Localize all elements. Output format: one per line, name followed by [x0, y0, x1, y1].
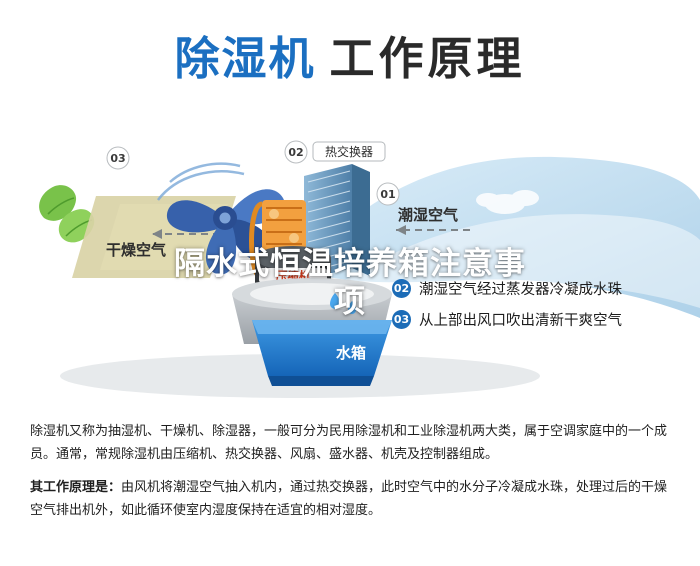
heat-exchanger-label-box: 热交换器 — [313, 142, 385, 161]
legend-item: 02 潮湿空气经过蒸发器冷凝成水珠 — [392, 278, 692, 298]
water-tank: 水箱 — [252, 320, 392, 386]
marker-01: 01 — [377, 183, 399, 205]
humid-air-label: 潮湿空气 — [398, 206, 458, 224]
legend-text-02: 潮湿空气经过蒸发器冷凝成水珠 — [419, 278, 622, 299]
marker-03-label: 03 — [110, 152, 125, 165]
marker-02: 02 — [285, 141, 307, 163]
legend-list: 02 潮湿空气经过蒸发器冷凝成水珠 03 从上部出风口吹出清新干爽空气 — [392, 278, 692, 340]
legend-badge-02: 02 — [392, 279, 411, 298]
marker-01-label: 01 — [380, 188, 395, 201]
dehumidifier-diagram: 干燥空气 03 — [0, 108, 700, 403]
marker-03: 03 — [107, 147, 129, 169]
heat-exchanger-label: 热交换器 — [325, 144, 373, 159]
dry-air-label: 干燥空气 — [106, 241, 166, 259]
body-paragraph-2: 其工作原理是：由风机将潮湿空气抽入机内，通过热交换器，此时空气中的水分子冷凝成水… — [30, 476, 670, 522]
body-paragraph-2-text: 由风机将潮湿空气抽入机内，通过热交换器，此时空气中的水分子冷凝成水珠，处理过后的… — [30, 480, 667, 518]
page-title-primary: 除湿机 — [174, 32, 315, 85]
page-title-secondary: 工作原理 — [330, 32, 526, 85]
legend-text-03: 从上部出风口吹出清新干爽空气 — [419, 309, 622, 330]
marker-02-label: 02 — [288, 146, 303, 159]
legend-item: 03 从上部出风口吹出清新干爽空气 — [392, 309, 692, 329]
water-tank-label: 水箱 — [336, 344, 366, 362]
body-paragraph-2-lead: 其工作原理是： — [30, 480, 121, 495]
legend-badge-03: 03 — [392, 310, 411, 329]
infographic-page: 除湿机工作原理 — [0, 0, 700, 566]
body-paragraph-1: 除湿机又称为抽湿机、干燥机、除湿器，一般可分为民用除湿机和工业除湿机两大类，属于… — [30, 420, 670, 466]
page-title: 除湿机工作原理 — [0, 22, 700, 87]
fan-motion-arc — [158, 164, 244, 200]
body-copy: 除湿机又称为抽湿机、干燥机、除湿器，一般可分为民用除湿机和工业除湿机两大类，属于… — [30, 420, 670, 533]
